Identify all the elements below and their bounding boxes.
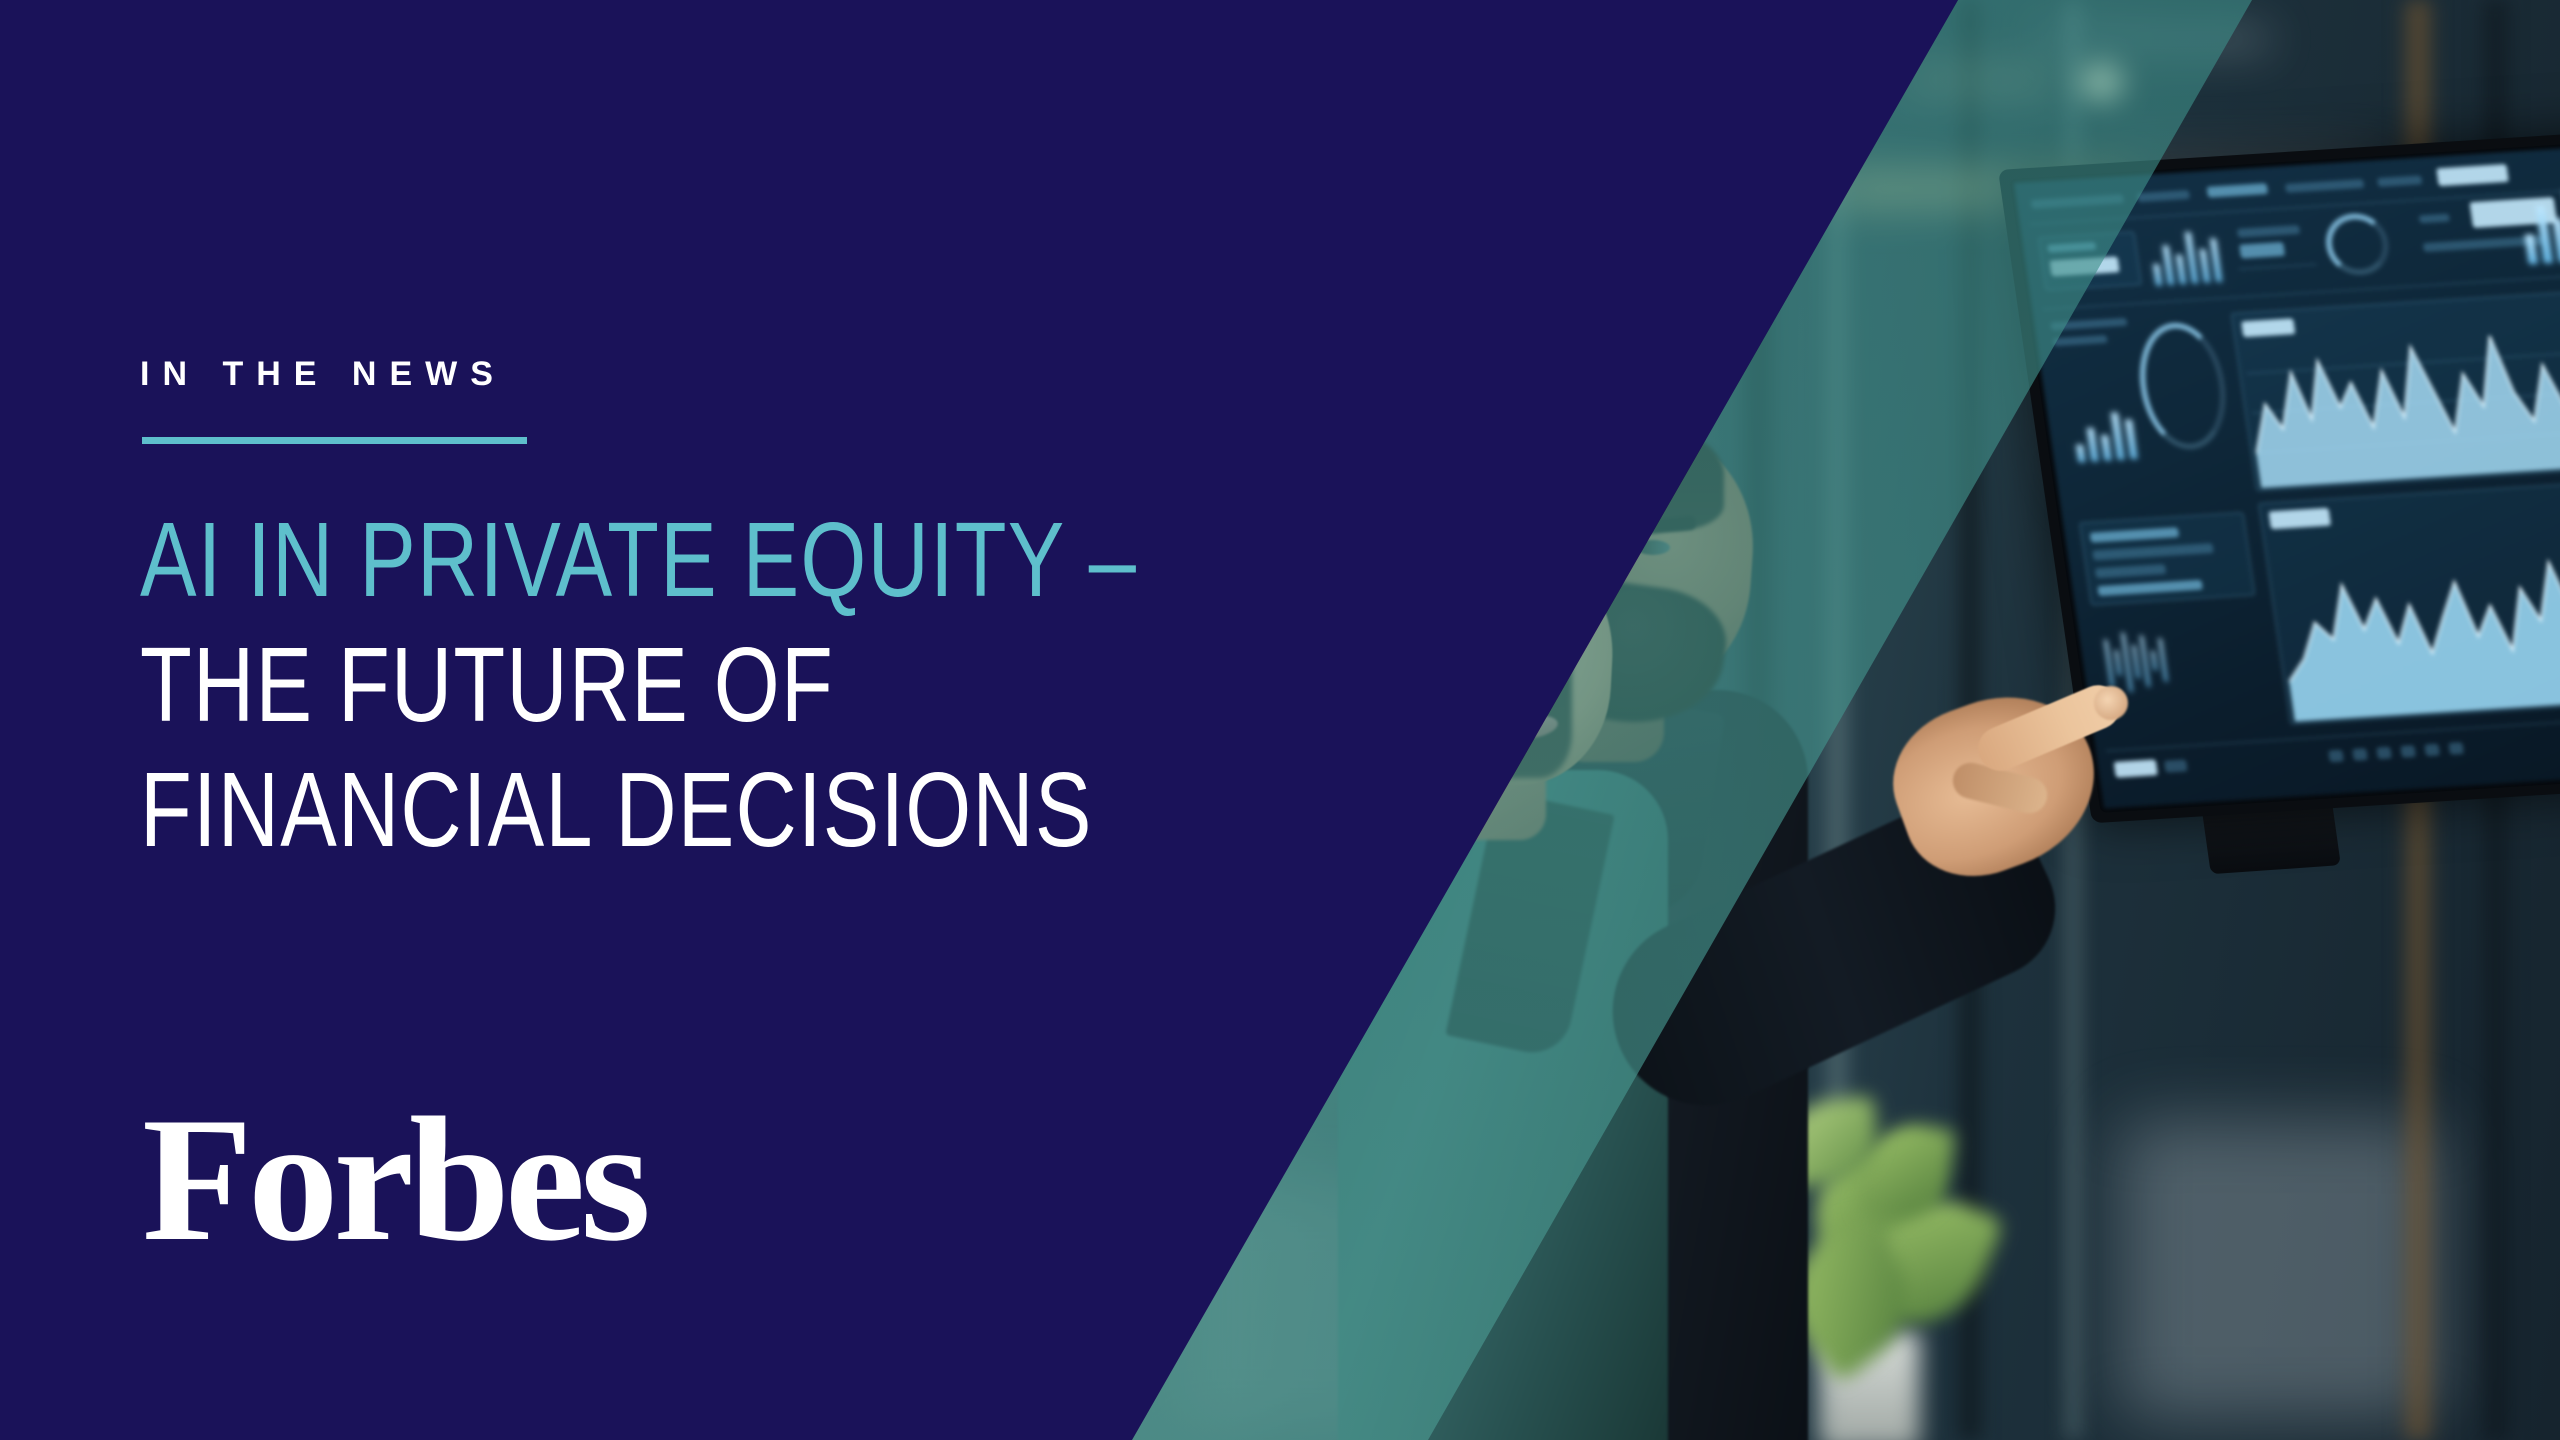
dashboard-sidebar-item [2053, 335, 2108, 346]
headline-line-3: FINANCIAL DECISIONS [140, 748, 1180, 873]
area-chart-svg [2268, 508, 2560, 722]
forbes-logo: Forbes [142, 1090, 646, 1268]
dashboard-toolbar-icon[interactable] [2400, 745, 2416, 758]
dashboard-nav-pill [2377, 175, 2422, 187]
area-chart-svg [2239, 310, 2560, 488]
dashboard-list-row [2095, 564, 2167, 578]
dashboard-toolbar-icon[interactable] [2448, 742, 2464, 755]
dashboard-list-card [2079, 512, 2255, 605]
hero-content: IN THE NEWS AI IN PRIVATE EQUITY – THE F… [140, 0, 1390, 1440]
dashboard-area-chart-panel-lower [2258, 476, 2560, 724]
dashboard-kpi-label [2419, 214, 2450, 224]
dashboard-bar-chart [2067, 382, 2137, 463]
background-blur-patch [2120, 1120, 2440, 1420]
dashboard-nav-pill [2137, 190, 2190, 202]
dashboard-toolbar-icon[interactable] [2376, 747, 2392, 760]
headline-line-1: AI IN PRIVATE EQUITY – [140, 498, 1180, 623]
dashboard-list-row [2092, 543, 2214, 560]
dashboard-donut-chart [2322, 212, 2393, 277]
hero-banner: IN THE NEWS AI IN PRIVATE EQUITY – THE F… [0, 0, 2560, 1440]
dashboard-kpi-label [2237, 225, 2300, 238]
dashboard-toolbar-icon[interactable] [2424, 744, 2440, 757]
dashboard-toolbar-icon[interactable] [2352, 748, 2368, 761]
dashboard-toolbar-icon[interactable] [2328, 750, 2344, 763]
dashboard-toolbar-button[interactable] [2164, 759, 2188, 772]
dashboard-list-row [2090, 527, 2180, 542]
dashboard-nav-pill [2207, 183, 2269, 198]
eyebrow-underline-rule [142, 437, 527, 444]
page-title: AI IN PRIVATE EQUITY – THE FUTURE OF FIN… [140, 498, 1440, 873]
dashboard-bar-chart [2518, 181, 2560, 264]
dashboard-list-row [2097, 580, 2203, 596]
headline-line-2: THE FUTURE OF [140, 623, 1180, 748]
dashboard-divider [2239, 264, 2317, 270]
dashboard-chart-badge [2268, 508, 2331, 530]
dashboard-kpi-tile [2436, 164, 2509, 186]
dashboard-area-chart-panel [2231, 286, 2560, 491]
dashboard-nav-pill [2285, 179, 2364, 193]
dashboard-donut-chart [2132, 320, 2234, 452]
dashboard-toolbar-button[interactable] [2114, 759, 2158, 777]
dashboard-sparkline-bars [2148, 226, 2222, 286]
dashboard-kpi-value [2239, 242, 2285, 259]
eyebrow-label: IN THE NEWS [140, 357, 506, 391]
fingertip [2094, 686, 2128, 720]
